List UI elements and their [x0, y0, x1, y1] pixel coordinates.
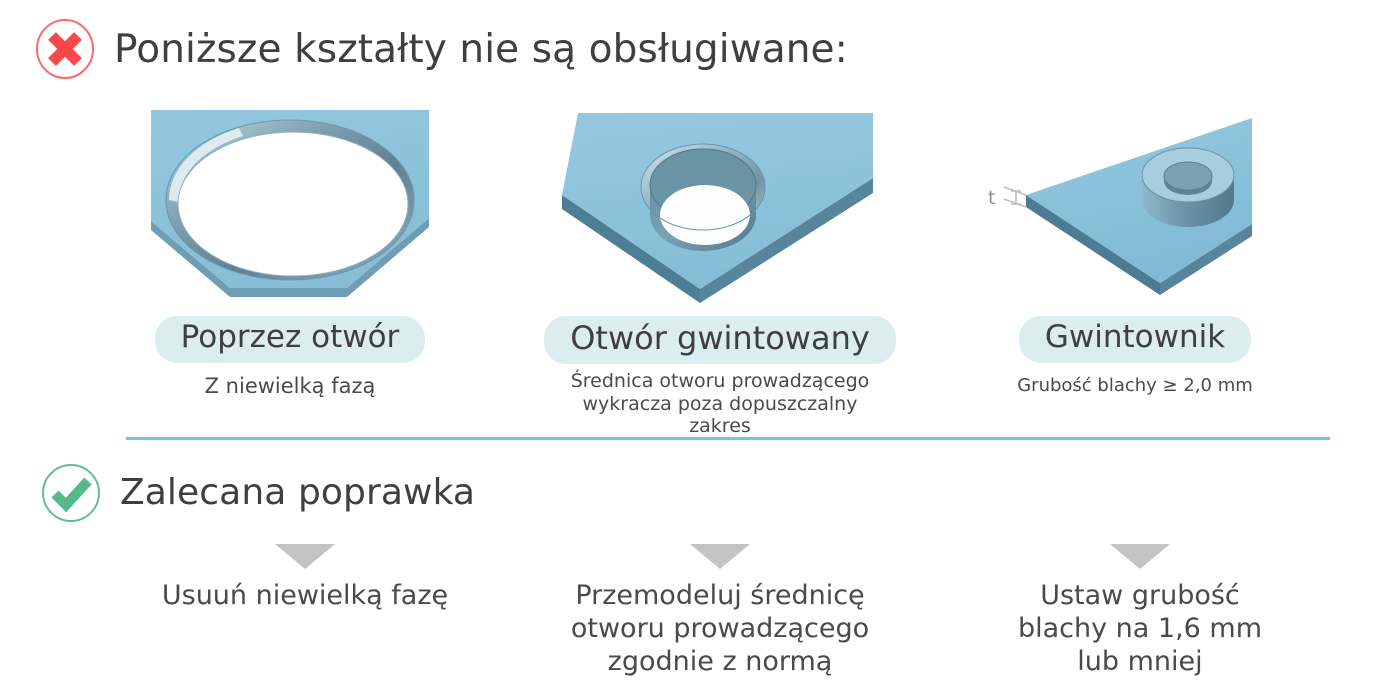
fix-item-1: Przemodeluj średnicę otworu prowadzącego…	[550, 544, 890, 679]
shape-caption-through-hole: Z niewielką fazą	[205, 373, 376, 399]
shape-caption-tapping-boss: Grubość blachy ≥ 2,0 mm	[1017, 375, 1253, 398]
shape-column-through-hole: Poprzez otwór Z niewielką fazą	[125, 105, 455, 399]
arrow-down-icon	[275, 544, 335, 569]
unsupported-title: Poniższe kształty nie są obsługiwane:	[114, 30, 848, 69]
fix-text-1: Przemodeluj średnicę otworu prowadzącego…	[571, 580, 869, 679]
recommended-title: Zalecana poprawka	[120, 475, 475, 511]
check-circle-icon	[40, 462, 102, 524]
shape-column-tapping-boss: t Gwintownik Grubość blachy ≥ 2,0 mm	[960, 105, 1310, 397]
shape-column-tapped-hole: Otwór gwintowany Średnica otworu prowadz…	[555, 105, 885, 438]
fix-item-0: Usuuń niewielką fazę	[135, 544, 475, 613]
arrow-down-icon	[690, 544, 750, 569]
tapping-boss-illustration: t	[960, 105, 1310, 310]
tapped-hole-illustration	[555, 105, 885, 310]
shape-caption-tapped-hole: Średnica otworu prowadzącego wykracza po…	[555, 370, 885, 438]
shape-label-tapped-hole: Otwór gwintowany	[544, 316, 896, 364]
fix-text-0: Usuuń niewielką fazę	[162, 580, 448, 613]
cross-circle-icon	[34, 18, 96, 80]
through-hole-with-chamfer-illustration	[125, 105, 455, 310]
fix-item-2: Ustaw grubość blachy na 1,6 mm lub mniej	[970, 544, 1310, 679]
unsupported-section-header: Poniższe kształty nie są obsługiwane:	[34, 18, 848, 80]
arrow-down-icon	[1110, 544, 1170, 569]
fix-text-2: Ustaw grubość blachy na 1,6 mm lub mniej	[1018, 580, 1262, 679]
shape-label-tapping-boss: Gwintownik	[1019, 316, 1251, 363]
recommended-section-header: Zalecana poprawka	[40, 462, 475, 524]
thickness-dimension-label: t	[988, 187, 995, 209]
shape-label-through-hole: Poprzez otwór	[155, 316, 426, 363]
